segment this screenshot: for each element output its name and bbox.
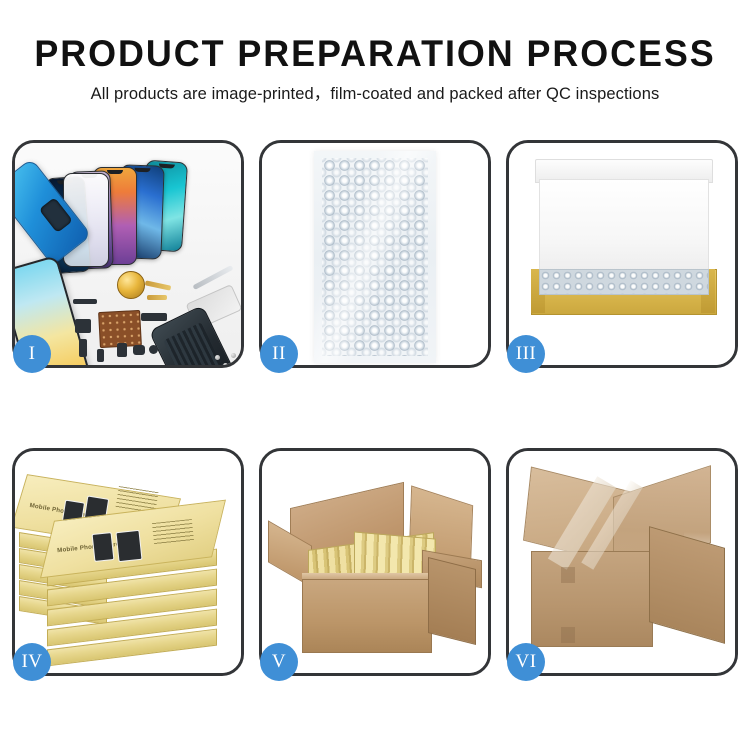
button-flex-icon [133,345,145,355]
process-step-panel-4[interactable]: Mobile Phone Spare Parts Mobile Phone Sp… [12,448,244,676]
process-step-panel-3[interactable]: III [506,140,738,368]
process-step-grid: I II III [12,140,738,676]
box-spec-list-icon [152,519,194,545]
vibrator-motor-icon [149,345,158,354]
step-1-illustration [15,143,241,365]
page-subtitle: All products are image-printed，film-coat… [0,74,750,104]
page-header: PRODUCT PREPARATION PROCESS All products… [0,0,750,128]
camera-module-icon [141,313,167,321]
process-step-panel-2[interactable]: II [259,140,491,368]
process-step-panel-6[interactable]: VI [506,448,738,676]
screw-icon [223,363,228,365]
box-artwork-screen-icon [115,530,142,562]
page-title: PRODUCT PREPARATION PROCESS [11,0,739,74]
step-2-illustration [262,143,488,365]
screw-icon [215,355,220,360]
process-step-panel-5[interactable]: V [259,448,491,676]
box-artwork-screen-icon [92,532,115,562]
step-badge-6: VI [507,643,545,681]
step-badge-1: I [13,335,51,373]
flex-cable-icon [145,280,171,290]
carton-side-face-icon [428,557,476,645]
phone-notch-icon [107,170,123,174]
step-3-illustration [509,143,735,365]
carton-seam-icon [561,567,575,583]
flex-cable-icon [147,295,167,300]
phone-notch-icon [134,168,150,173]
box-lid-face-icon [539,179,709,279]
carton-seam-icon [561,627,575,643]
step-badge-4: IV [13,643,51,681]
flex-cable-icon [73,299,97,304]
battery-connector-icon [117,343,127,357]
process-step-panel-1[interactable]: I [12,140,244,368]
sealed-carton-side-icon [649,526,725,644]
screw-icon [231,353,236,358]
plastic-gloss-icon [314,151,436,363]
carton-front-face-icon [302,579,432,653]
step-badge-5: V [260,643,298,681]
step-6-illustration [509,451,735,673]
flex-cable-icon [79,339,87,357]
sim-tray-icon [97,349,104,362]
bubble-wrapped-contents-icon [539,269,709,295]
speaker-coil-icon [117,271,145,299]
bubble-wrap-sheet-icon [314,151,436,363]
step-5-illustration [262,451,488,673]
step-badge-2: II [260,335,298,373]
flex-cable-icon [75,319,91,333]
step-4-illustration: Mobile Phone Spare Parts Mobile Phone Sp… [15,451,241,673]
retail-box-stack-icon: Mobile Phone Spare Parts Mobile Phone Sp… [15,451,241,673]
step-badge-3: III [507,335,545,373]
